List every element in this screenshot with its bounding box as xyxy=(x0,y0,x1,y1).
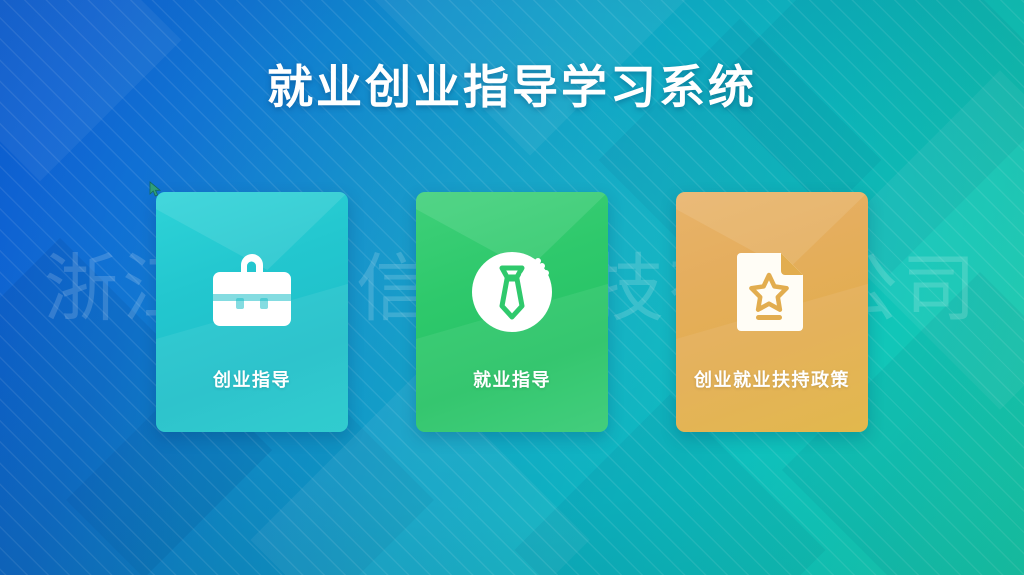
page-title: 就业创业指导学习系统 xyxy=(0,62,1024,113)
card-label: 创业指导 xyxy=(213,366,291,392)
card-entrepreneurship-guidance[interactable]: 创业指导 xyxy=(156,192,348,432)
card-label: 创业就业扶持政策 xyxy=(694,366,850,392)
document-star-icon xyxy=(726,246,818,338)
app-screen: 浙江驰马信息科技有限公司 就业创业指导学习系统 创业指导 xyxy=(0,0,1024,575)
card-label: 就业指导 xyxy=(473,366,551,392)
necktie-circle-icon xyxy=(466,246,558,338)
card-support-policy[interactable]: 创业就业扶持政策 xyxy=(676,192,868,432)
module-card-list: 创业指导 就业指导 xyxy=(0,192,1024,432)
briefcase-icon xyxy=(206,246,298,338)
card-employment-guidance[interactable]: 就业指导 xyxy=(416,192,608,432)
